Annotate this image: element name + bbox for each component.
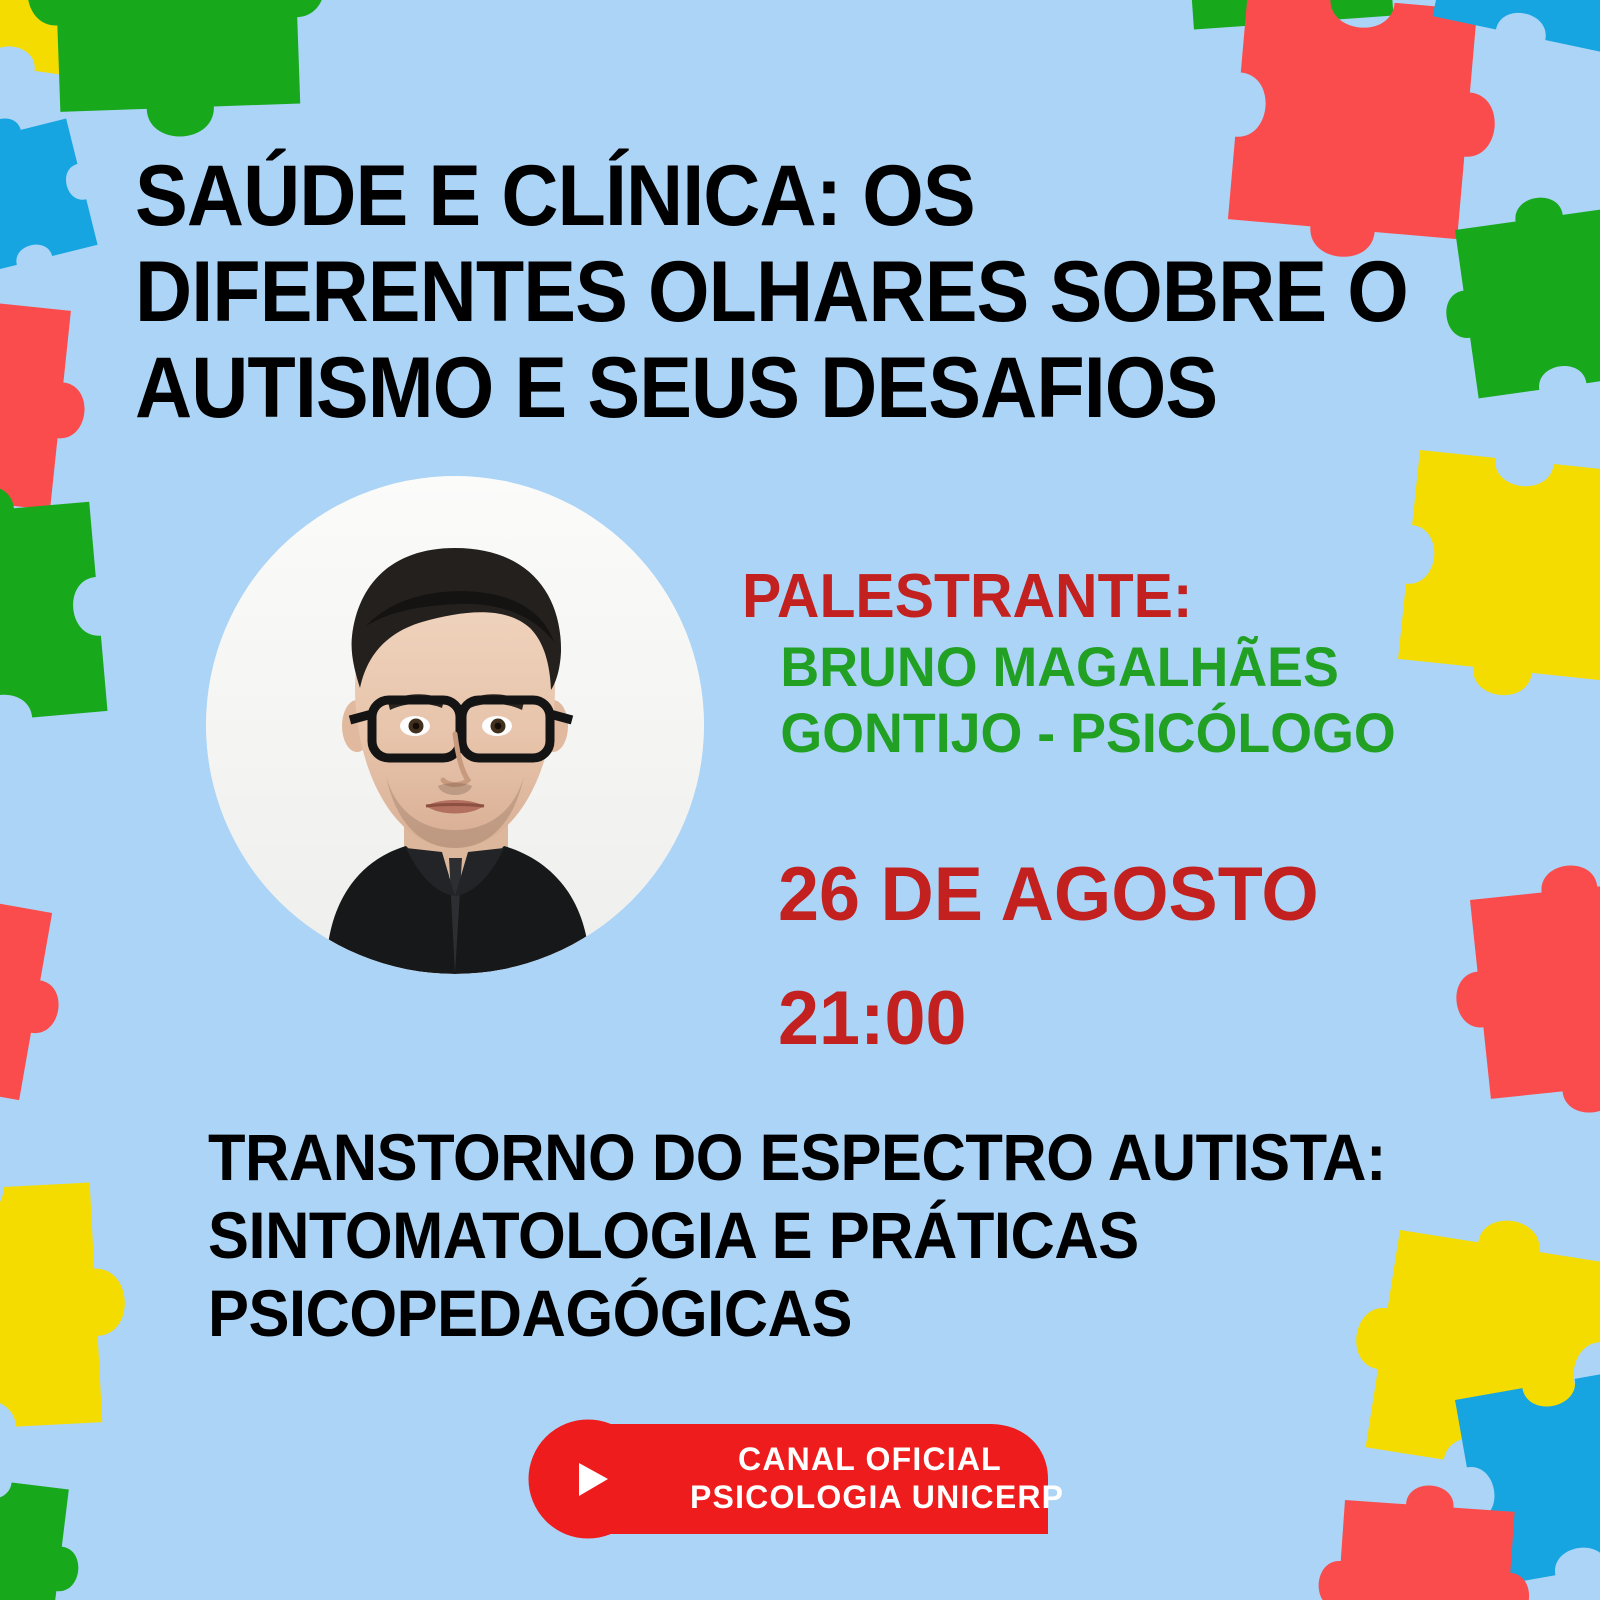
- event-time: 21:00: [778, 957, 1457, 1081]
- title-line-1: SAÚDE E CLÍNICA: OS: [135, 148, 1230, 244]
- speaker-photo: [206, 476, 704, 974]
- subtitle-line-2: SINTOMATOLOGIA E PRÁTICAS: [208, 1196, 1371, 1274]
- event-date: 26 DE AGOSTO: [778, 833, 1457, 957]
- subtitle-line-1: TRANSTORNO DO ESPECTRO AUTISTA:: [208, 1118, 1371, 1196]
- badge-text-block: CANAL OFICIAL PSICOLOGIA UNICERP: [690, 1440, 1050, 1516]
- title-line-2: DIFERENTES OLHARES SOBRE O: [135, 244, 1230, 340]
- subtitle-line-3: PSICOPEDAGÓGICAS: [208, 1274, 1371, 1352]
- speaker-portrait-illustration: [206, 476, 704, 974]
- page-title: SAÚDE E CLÍNICA: OS DIFERENTES OLHARES S…: [135, 148, 1325, 436]
- title-line-3: AUTISMO E SEUS DESAFIOS: [135, 340, 1230, 436]
- speaker-name-line-2: GONTIJO - PSICÓLOGO: [742, 700, 1395, 766]
- event-datetime: 26 DE AGOSTO 21:00: [778, 833, 1478, 1081]
- poster-canvas: SAÚDE E CLÍNICA: OS DIFERENTES OLHARES S…: [0, 0, 1600, 1600]
- speaker-info: PALESTRANTE: BRUNO MAGALHÃES GONTIJO - P…: [742, 560, 1422, 766]
- speaker-heading: PALESTRANTE:: [742, 560, 1388, 634]
- badge-line-1: CANAL OFICIAL: [690, 1440, 1050, 1478]
- speaker-name-line-1: BRUNO MAGALHÃES: [742, 634, 1395, 700]
- badge-line-2: PSICOLOGIA UNICERP: [690, 1478, 1050, 1516]
- subtitle-topic: TRANSTORNO DO ESPECTRO AUTISTA: SINTOMAT…: [208, 1118, 1458, 1352]
- youtube-channel-badge[interactable]: CANAL OFICIAL PSICOLOGIA UNICERP: [520, 1418, 1065, 1540]
